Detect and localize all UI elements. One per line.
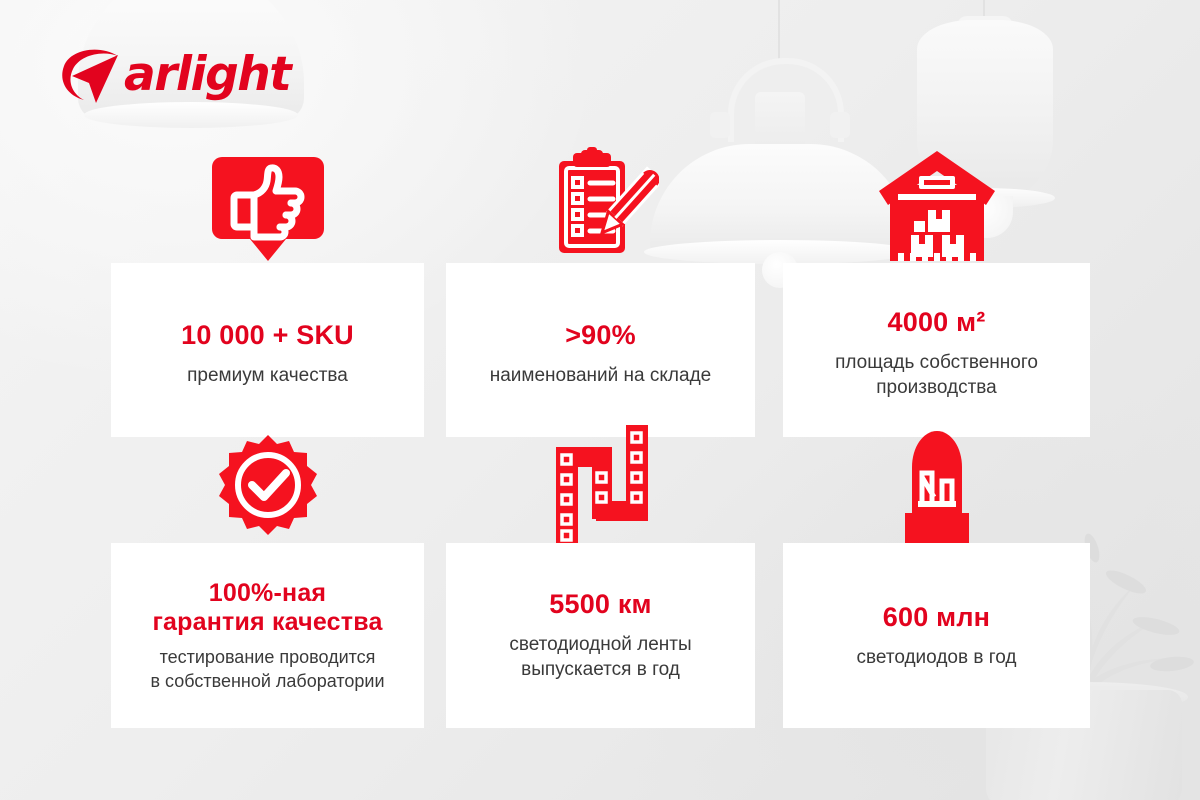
pendant-lamp-vase-icon [915,0,1055,215]
stat-subline: светодиодов в год [857,645,1017,670]
brand-logo-text: arlight [124,44,290,106]
stat-headline: 4000 м² [888,307,986,338]
led-strip-icon [446,425,755,543]
stat-card-body: >90% наименований на складе [446,263,755,437]
stat-card-body: 4000 м² площадь собственного производств… [783,263,1090,437]
thumbs-up-icon [111,143,424,263]
stat-card-body: 600 млн светодиодов в год [783,543,1090,728]
led-diode-icon [783,425,1090,543]
arlight-swoosh-logo-icon [56,46,130,108]
clipboard-checklist-pencil-icon [446,143,755,263]
stat-card[interactable]: 10 000 + SKU премиум качества [111,263,424,437]
stat-card[interactable]: >90% наименований на складе [446,263,755,437]
infographic-page: arlight 10 000 + SKU преми [0,0,1200,800]
stat-card-body: 5500 км светодиодной ленты выпускается в… [446,543,755,728]
stat-card[interactable]: 600 млн светодиодов в год [783,543,1090,728]
stat-headline: 600 млн [883,602,990,633]
warehouse-icon [783,143,1090,263]
quality-badge-check-icon [111,425,424,543]
stat-subline: наименований на складе [490,363,711,388]
stat-subline: тестирование проводится в собственной ла… [150,645,384,693]
stat-subline: премиум качества [187,363,348,388]
stat-card-body: 100%-ная гарантия качества тестирование … [111,543,424,728]
pendant-lamp-dome-icon [650,0,910,285]
stat-card[interactable]: 4000 м² площадь собственного производств… [783,263,1090,437]
stat-card-body: 10 000 + SKU премиум качества [111,263,424,437]
brand-logo[interactable]: arlight [56,46,296,108]
stat-headline: 100%-ная гарантия качества [152,579,382,637]
stat-card[interactable]: 5500 км светодиодной ленты выпускается в… [446,543,755,728]
stat-headline: 5500 км [549,589,651,620]
stat-subline: светодиодной ленты выпускается в год [509,632,691,682]
stat-headline: 10 000 + SKU [181,320,354,351]
stat-subline: площадь собственного производства [835,350,1038,400]
stat-card[interactable]: 100%-ная гарантия качества тестирование … [111,543,424,728]
stats-grid: 10 000 + SKU премиум качества [111,263,1090,728]
stat-headline: >90% [565,320,636,351]
